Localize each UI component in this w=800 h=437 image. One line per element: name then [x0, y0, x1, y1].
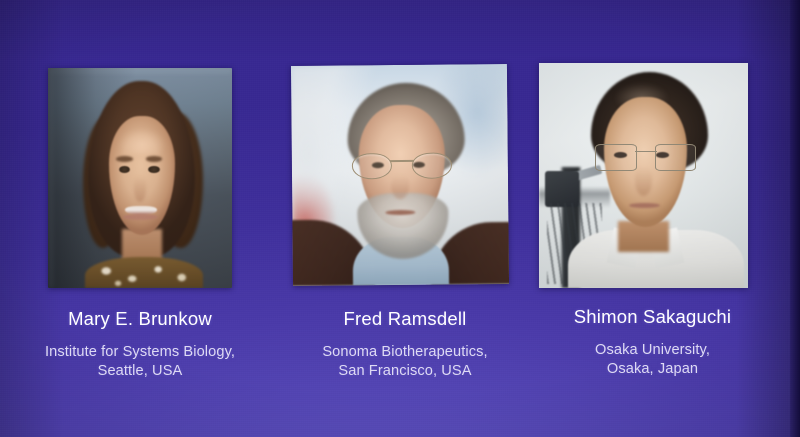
portrait-photo-1 — [48, 68, 232, 288]
portrait-3-projection-softening — [539, 63, 748, 288]
laureate-3-affiliation-line-2: Osaka, Japan — [505, 360, 800, 379]
laureate-card-1: Mary E. Brunkow Institute for Systems Bi… — [0, 68, 280, 381]
laureate-3-name: Shimon Sakaguchi — [505, 306, 800, 328]
laureate-2-affiliation-line-2: San Francisco, USA — [265, 362, 545, 381]
portrait-1-projection-softening — [48, 68, 232, 288]
portrait-photo-2 — [291, 64, 509, 286]
portrait-2-projection-softening — [291, 64, 509, 286]
laureate-1-name: Mary E. Brunkow — [0, 308, 280, 330]
laureate-1-affiliation-line-1: Institute for Systems Biology, — [0, 343, 280, 362]
laureate-card-3: Shimon Sakaguchi Osaka University, Osaka… — [505, 63, 800, 379]
laureate-card-2: Fred Ramsdell Sonoma Biotherapeutics, Sa… — [265, 65, 545, 381]
laureate-3-affiliation-line-1: Osaka University, — [505, 341, 800, 360]
portrait-photo-3 — [539, 63, 748, 288]
laureate-2-name: Fred Ramsdell — [265, 308, 545, 330]
laureate-2-affiliation-line-1: Sonoma Biotherapeutics, — [265, 343, 545, 362]
presentation-slide: Mary E. Brunkow Institute for Systems Bi… — [0, 0, 800, 437]
laureate-1-affiliation-line-2: Seattle, USA — [0, 362, 280, 381]
